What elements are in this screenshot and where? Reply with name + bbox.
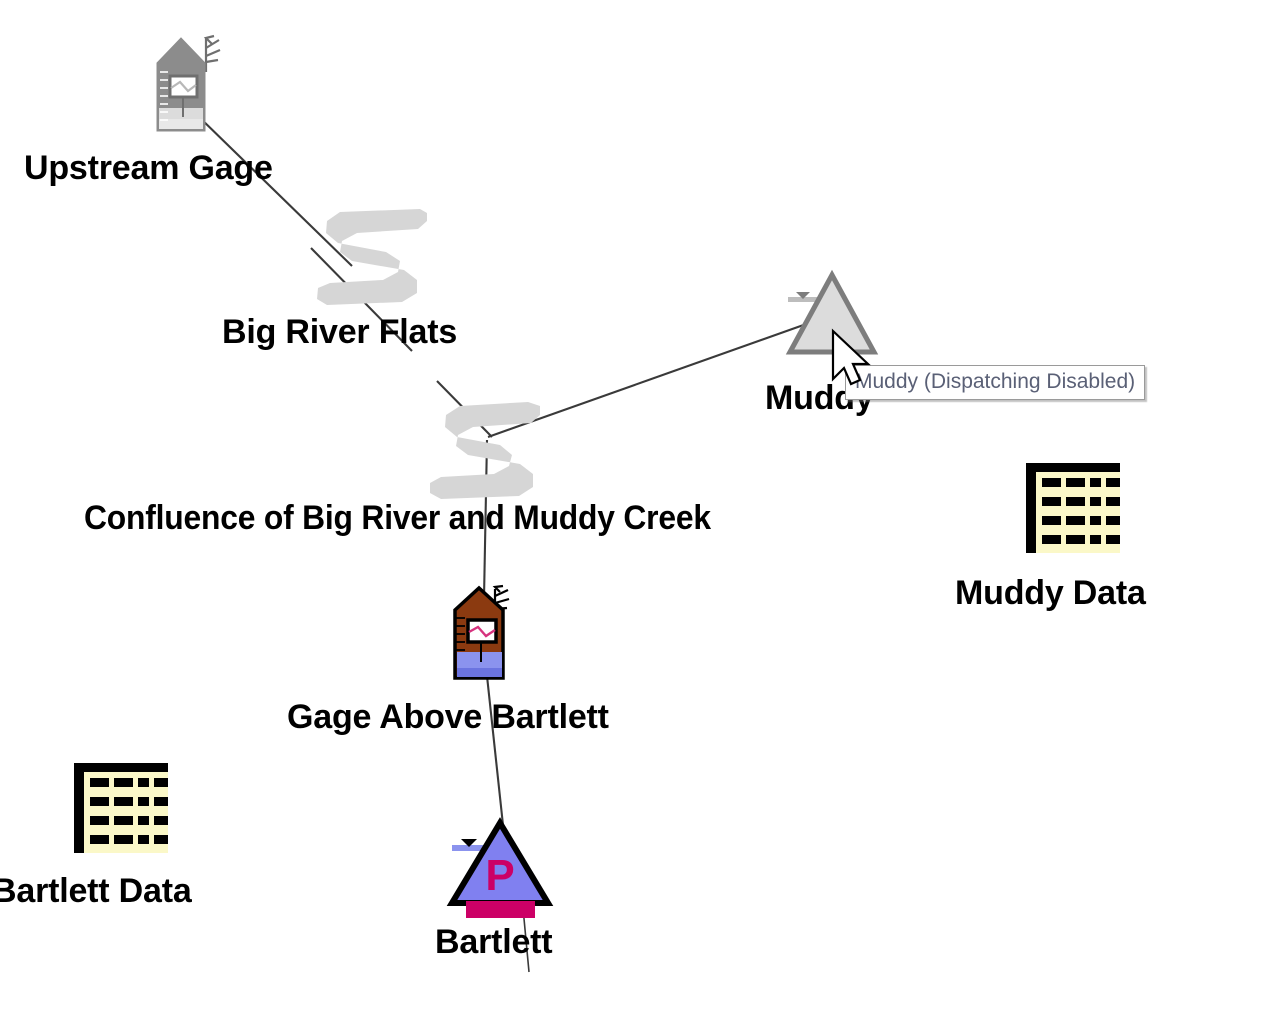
diversion-triangle-icon-muddy[interactable] (788, 275, 874, 352)
water-level-symbol-bartlett (452, 839, 488, 851)
link-muddy-to-confluence (488, 317, 826, 437)
node-label-bartlett-data: Bartlett Data (0, 874, 192, 908)
data-table-icon-bartlett-data[interactable] (74, 763, 168, 853)
node-label-muddy-data: Muddy Data (955, 576, 1146, 610)
river-reach-icon-big-river-flats[interactable] (317, 209, 427, 305)
node-label-gage-above-bartlett: Gage Above Bartlett (287, 700, 609, 734)
data-table-icon-muddy-data[interactable] (1026, 463, 1120, 553)
node-label-bartlett: Bartlett (435, 925, 552, 959)
node-label-upstream-gage: Upstream Gage (24, 151, 273, 185)
link-upstream-to-flats (196, 114, 352, 266)
river-reach-icon-confluence[interactable] (430, 402, 540, 499)
node-label-confluence: Confluence of Big River and Muddy Creek (84, 501, 711, 535)
link-flats-to-confluence-lower (437, 381, 492, 437)
node-label-big-river-flats: Big River Flats (222, 315, 457, 349)
reservoir-letter-p: P (485, 851, 514, 900)
stream-gage-icon-upstream[interactable] (157, 36, 220, 131)
tooltip-muddy: Muddy (Dispatching Disabled) (845, 365, 1145, 400)
stream-gage-icon-above-bartlett[interactable] (455, 586, 509, 678)
link-lines (196, 114, 826, 972)
water-level-symbol-muddy (788, 292, 821, 302)
schematic-canvas[interactable]: P (0, 0, 1266, 1019)
reservoir-triangle-icon-bartlett[interactable]: P (452, 823, 548, 918)
